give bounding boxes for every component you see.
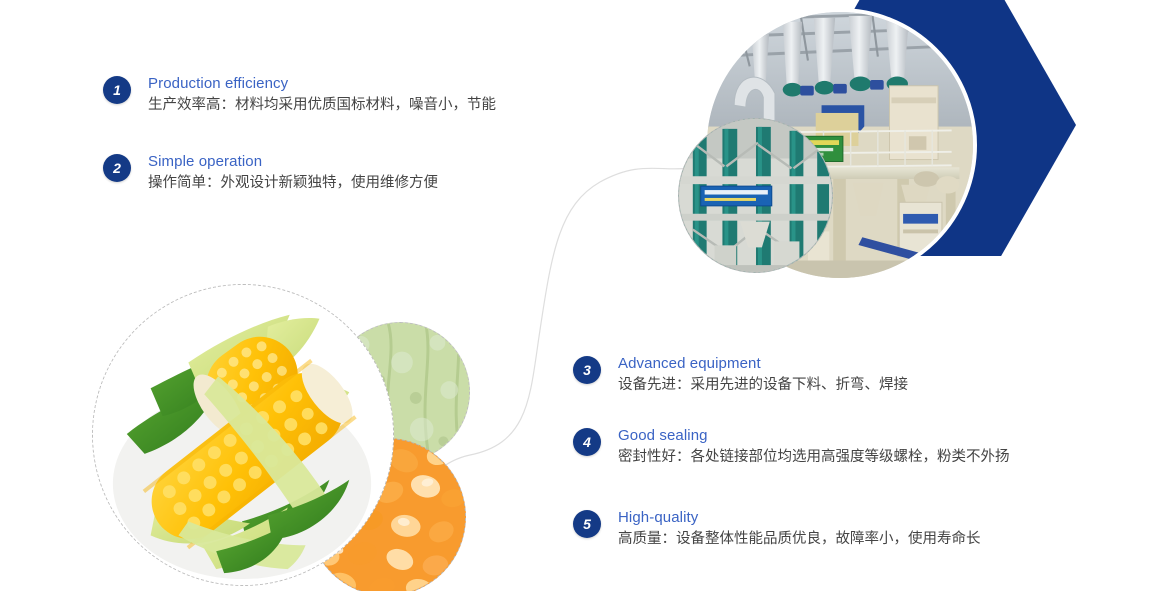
- feature-text-4: Good sealing 密封性好：各处链接部位均选用高强度等级螺栓，粉类不外扬: [618, 426, 1010, 468]
- feature-badge-1: 1: [103, 76, 131, 104]
- fresh-corn-cobs-illustration: [93, 285, 393, 585]
- feature-description-5: 高质量：设备整体性能品质优良，故障率小，使用寿命长: [618, 529, 981, 550]
- feature-item-2[interactable]: 2 Simple operation 操作简单：外观设计新颖独特，使用维修方便: [103, 152, 438, 194]
- feature-badge-3: 3: [573, 356, 601, 384]
- feature-item-3[interactable]: 3 Advanced equipment 设备先进：采用先进的设备下料、折弯、焊…: [573, 354, 908, 396]
- feature-text-2: Simple operation 操作简单：外观设计新颖独特，使用维修方便: [148, 152, 438, 194]
- feature-title-1: Production efficiency: [148, 74, 496, 93]
- feature-title-2: Simple operation: [148, 152, 438, 171]
- feature-description-4: 密封性好：各处链接部位均选用高强度等级螺栓，粉类不外扬: [618, 447, 1010, 468]
- feature-badge-4: 4: [573, 428, 601, 456]
- machinery-photo-secondary: [678, 118, 833, 273]
- feature-description-2: 操作简单：外观设计新颖独特，使用维修方便: [148, 173, 438, 194]
- feature-title-5: High-quality: [618, 508, 981, 527]
- feature-text-1: Production efficiency 生产效率高：材料均采用优质国标材料，…: [148, 74, 496, 116]
- feature-text-5: High-quality 高质量：设备整体性能品质优良，故障率小，使用寿命长: [618, 508, 981, 550]
- feature-item-1[interactable]: 1 Production efficiency 生产效率高：材料均采用优质国标材…: [103, 74, 496, 116]
- feature-badge-5: 5: [573, 510, 601, 538]
- feature-item-5[interactable]: 5 High-quality 高质量：设备整体性能品质优良，故障率小，使用寿命长: [573, 508, 981, 550]
- feature-item-4[interactable]: 4 Good sealing 密封性好：各处链接部位均选用高强度等级螺栓，粉类不…: [573, 426, 1010, 468]
- feature-title-3: Advanced equipment: [618, 354, 908, 373]
- teal-milling-equipment-illustration: [679, 119, 832, 272]
- feature-description-1: 生产效率高：材料均采用优质国标材料，噪音小，节能: [148, 95, 496, 116]
- feature-badge-2: 2: [103, 154, 131, 182]
- feature-text-3: Advanced equipment 设备先进：采用先进的设备下料、折弯、焊接: [618, 354, 908, 396]
- feature-title-4: Good sealing: [618, 426, 1010, 445]
- feature-description-3: 设备先进：采用先进的设备下料、折弯、焊接: [618, 375, 908, 396]
- product-features-infographic: 1 Production efficiency 生产效率高：材料均采用优质国标材…: [0, 0, 1154, 591]
- corn-cob-photo: [92, 284, 394, 586]
